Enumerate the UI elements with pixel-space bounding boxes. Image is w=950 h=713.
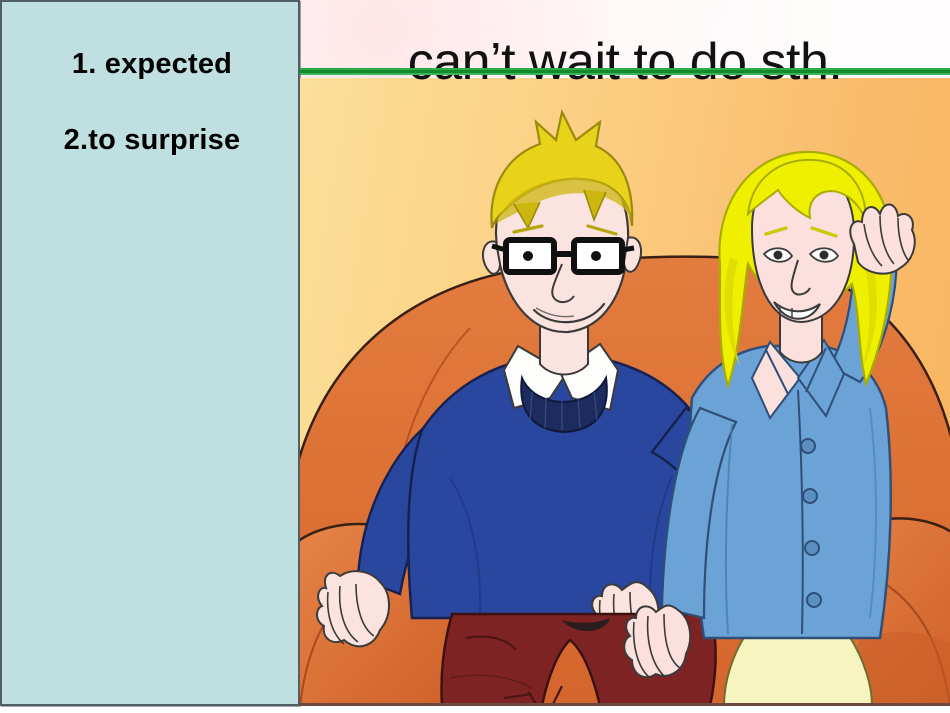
- page-title: can’t wait to do sth.: [300, 32, 950, 92]
- title-divider-rule: [300, 68, 950, 75]
- vocab-item-2: 2.to surprise: [2, 124, 302, 157]
- divider-line-bottom: [300, 73, 950, 75]
- slide-canvas: 1. expected 2.to surprise: [0, 0, 950, 713]
- cartoon-illustration: [300, 78, 950, 706]
- vocab-item-1: 1. expected: [2, 48, 302, 81]
- vocabulary-panel: 1. expected 2.to surprise: [0, 0, 300, 706]
- couple-on-sofa-drawing: [300, 78, 950, 706]
- picture-bottom-border: [300, 703, 950, 706]
